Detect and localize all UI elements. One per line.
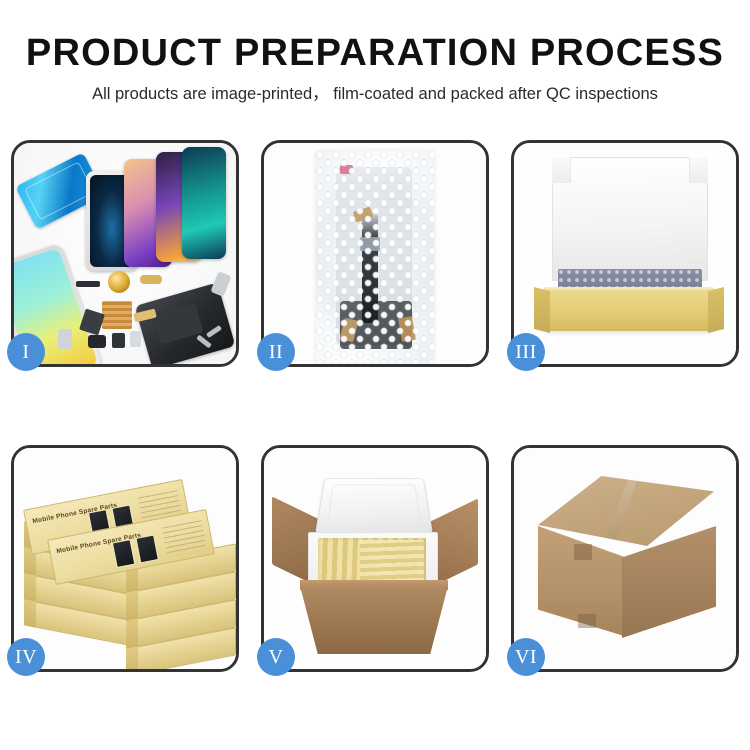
step-4-image: Mobile Phone Spare Parts Mobile Phone Sp… bbox=[14, 448, 236, 669]
packed-boxes-row-b bbox=[360, 540, 424, 582]
process-step-panel-3[interactable]: III bbox=[511, 140, 739, 367]
chip-array-part bbox=[102, 301, 132, 329]
step-6-image bbox=[514, 448, 736, 669]
spare-part-bracket bbox=[130, 331, 141, 347]
process-step-panel-1[interactable]: I bbox=[11, 140, 239, 367]
page-title: PRODUCT PREPARATION PROCESS bbox=[0, 34, 750, 72]
white-box-lid bbox=[552, 157, 708, 281]
step-badge-4: IV bbox=[7, 638, 45, 676]
kraft-tray-base bbox=[544, 291, 714, 331]
process-step-panel-2[interactable]: II bbox=[261, 140, 489, 367]
bubble-wrap-bag bbox=[316, 151, 434, 363]
teal-gradient-phone bbox=[182, 147, 226, 259]
page-subtitle: All products are image-printed， film-coa… bbox=[0, 86, 750, 103]
bubble-texture bbox=[316, 151, 434, 363]
process-step-grid: I II III bbox=[11, 140, 739, 672]
process-step-panel-4[interactable]: Mobile Phone Spare Parts Mobile Phone Sp… bbox=[11, 445, 239, 672]
box-print-screen-c bbox=[112, 539, 136, 568]
spare-part-sim-tray bbox=[58, 329, 72, 349]
page-header: PRODUCT PREPARATION PROCESS All products… bbox=[0, 0, 750, 103]
spare-part-connector bbox=[140, 275, 162, 284]
gold-coil-part bbox=[108, 271, 130, 293]
step-badge-3: III bbox=[507, 333, 545, 371]
step-5-image bbox=[264, 448, 486, 669]
step-badge-1: I bbox=[7, 333, 45, 371]
spare-part-tool bbox=[210, 271, 231, 297]
step-badge-5: V bbox=[257, 638, 295, 676]
carton-body-open bbox=[300, 586, 448, 654]
styrofoam-lid bbox=[315, 478, 433, 535]
step-badge-6: VI bbox=[507, 638, 545, 676]
step-1-image bbox=[14, 143, 236, 364]
kraft-box-stack: Mobile Phone Spare Parts Mobile Phone Sp… bbox=[22, 466, 232, 656]
sealed-carton-label-tab-lower bbox=[578, 614, 596, 628]
spare-part-strip bbox=[76, 281, 100, 287]
spare-part-speaker bbox=[112, 333, 125, 348]
process-step-panel-6[interactable]: VI bbox=[511, 445, 739, 672]
process-step-panel-5[interactable]: V bbox=[261, 445, 489, 672]
spare-part-camera-module bbox=[88, 335, 106, 348]
box-print-spec-lines-2 bbox=[162, 520, 207, 557]
sealed-carton-label-tab-upper bbox=[574, 544, 592, 560]
step-badge-2: II bbox=[257, 333, 295, 371]
step-2-image bbox=[264, 143, 486, 364]
box-print-screen-d bbox=[135, 534, 159, 563]
step-3-image bbox=[514, 143, 736, 364]
